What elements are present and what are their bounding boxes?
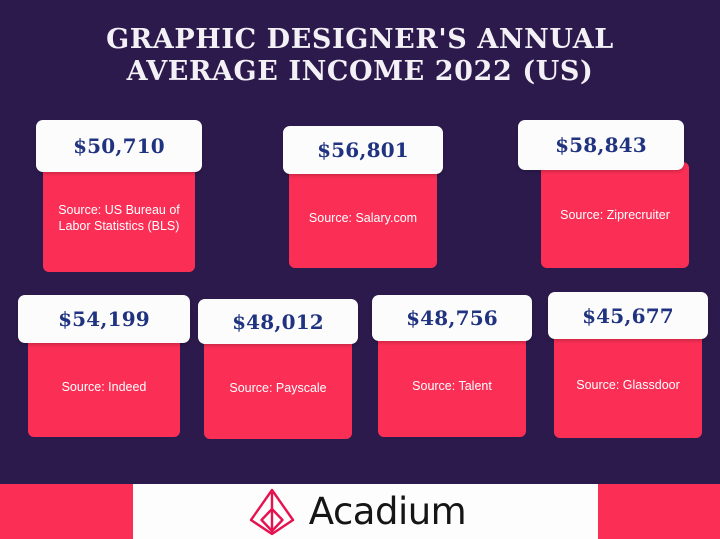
stat-card-ziprecruiter: $58,843 Source: Ziprecruiter — [518, 120, 684, 268]
stat-value: $48,756 — [406, 306, 498, 330]
stat-card-source-panel: Source: Payscale — [204, 337, 352, 439]
stat-source-label: Source: Glassdoor — [568, 377, 688, 393]
stat-card-indeed: $54,199 Source: Indeed — [18, 295, 190, 437]
stat-value: $54,199 — [58, 307, 150, 331]
stat-card-glassdoor: $45,677 Source: Glassdoor — [548, 292, 708, 438]
brand-logo: Acadium — [249, 488, 466, 536]
stat-card-source-panel: Source: Ziprecruiter — [541, 162, 689, 268]
title-line-1: GRAPHIC DESIGNER'S ANNUAL — [0, 24, 720, 56]
stat-value: $45,677 — [582, 304, 674, 328]
infographic-canvas: GRAPHIC DESIGNER'S ANNUAL AVERAGE INCOME… — [0, 0, 720, 539]
stat-card-value-panel: $50,710 — [36, 120, 202, 172]
footer-bar: Acadium — [0, 484, 720, 539]
stat-source-label: Source: US Bureau of Labor Statistics (B… — [43, 202, 195, 234]
stat-card-source-panel: Source: US Bureau of Labor Statistics (B… — [43, 164, 195, 272]
stat-source-label: Source: Talent — [404, 378, 500, 394]
stat-source-label: Source: Payscale — [221, 380, 334, 396]
acadium-diamond-logo-icon — [249, 488, 295, 536]
stat-source-label: Source: Indeed — [54, 379, 155, 395]
page-title: GRAPHIC DESIGNER'S ANNUAL AVERAGE INCOME… — [0, 24, 720, 88]
stat-card-value-panel: $48,756 — [372, 295, 532, 341]
stat-value: $56,801 — [317, 138, 409, 162]
stat-card-source-panel: Source: Indeed — [28, 336, 180, 437]
stat-source-label: Source: Ziprecruiter — [552, 207, 678, 223]
stat-card-value-panel: $48,012 — [198, 299, 358, 344]
stat-card-value-panel: $58,843 — [518, 120, 684, 170]
footer-brand-panel: Acadium — [133, 484, 598, 539]
title-line-2: AVERAGE INCOME 2022 (US) — [0, 56, 720, 88]
stat-card-payscale: $48,012 Source: Payscale — [198, 299, 358, 439]
stat-value: $50,710 — [73, 134, 165, 158]
stat-value: $58,843 — [555, 133, 647, 157]
stat-card-talent: $48,756 Source: Talent — [372, 295, 532, 437]
stat-card-bls: $50,710 Source: US Bureau of Labor Stati… — [36, 120, 202, 272]
stat-value: $48,012 — [232, 310, 324, 334]
brand-name: Acadium — [309, 493, 466, 530]
stat-card-salarycom: $56,801 Source: Salary.com — [283, 126, 443, 268]
stat-card-source-panel: Source: Glassdoor — [554, 332, 702, 438]
stat-card-value-panel: $45,677 — [548, 292, 708, 339]
stat-card-value-panel: $56,801 — [283, 126, 443, 174]
stat-card-source-panel: Source: Salary.com — [289, 167, 437, 268]
stat-source-label: Source: Salary.com — [301, 210, 425, 226]
stat-card-value-panel: $54,199 — [18, 295, 190, 343]
stat-card-source-panel: Source: Talent — [378, 334, 526, 437]
